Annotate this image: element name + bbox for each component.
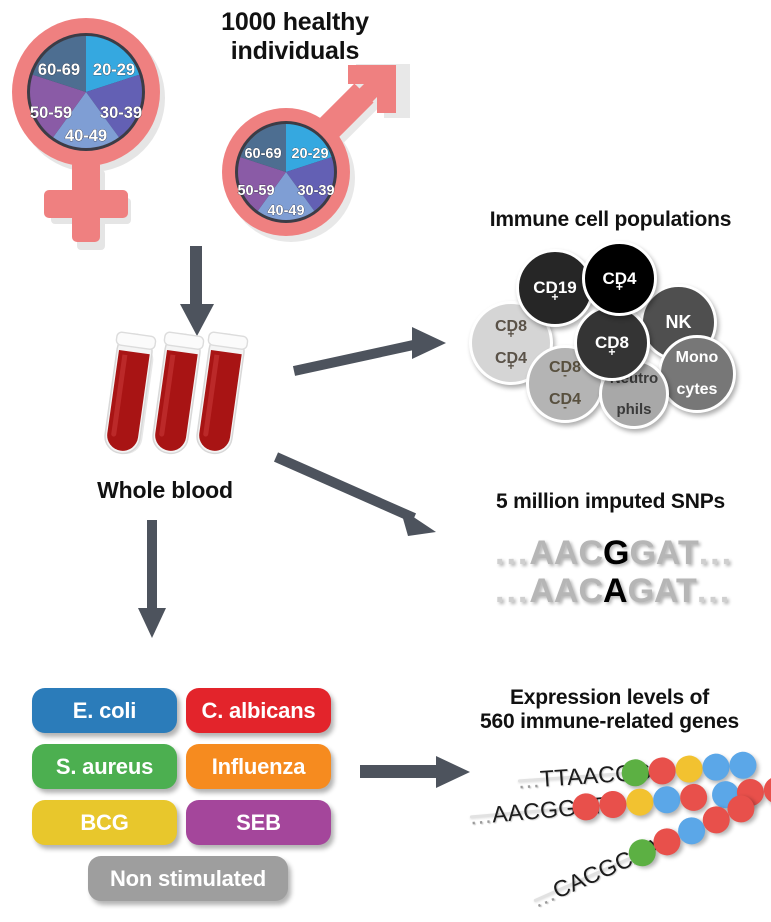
blood-tube-2: [149, 332, 204, 456]
pie-label-50-59: 50-59: [30, 104, 72, 122]
stimulus-c-albicans[interactable]: C. albicans: [186, 688, 331, 733]
svg-text:50-59: 50-59: [237, 183, 274, 199]
cell-bubble-cd8pos: CD8+: [574, 305, 650, 381]
cell-label-line1: Mono: [676, 350, 719, 366]
svg-text:60-69: 60-69: [244, 146, 281, 162]
genes-heading-line2: 560 immune-related genes: [448, 710, 771, 734]
snp-highlight-allele: A: [603, 572, 628, 610]
female-symbol: 20-29 30-39 40-49 50-59 60-69: [8, 14, 198, 254]
snp-right: GAT: [629, 534, 698, 572]
cell-label-line1: CD8-: [549, 360, 581, 376]
svg-text:30-39: 30-39: [297, 183, 334, 199]
pie-label-20-29: 20-29: [93, 61, 135, 79]
snp-prefix-dots: ...: [495, 572, 529, 610]
cell-label: CD4+: [602, 270, 636, 287]
snp-prefix-dots: ...: [495, 534, 529, 572]
immune-cell-cluster: CD8+ CD4+ CD19+ CD4+ NK CD8+ CD8- CD4- N…: [455, 235, 771, 425]
cell-bubble-cd4pos: CD4+: [582, 241, 657, 316]
genes-heading-line1: Expression levels of: [448, 686, 771, 710]
arrow-blood-to-stimuli: [132, 520, 174, 640]
blood-tube-3: [193, 332, 248, 456]
cell-label-line2: CD4+: [495, 351, 527, 367]
cell-label: NK: [666, 313, 692, 331]
arrow-blood-to-snps: [272, 432, 452, 542]
cell-label: CD8+: [595, 334, 629, 351]
pie-label-40-49: 40-49: [65, 127, 107, 145]
stimulus-seb[interactable]: SEB: [186, 800, 331, 845]
cell-label: CD19+: [533, 279, 576, 296]
cell-label-line2: phils: [610, 402, 658, 417]
immune-cells-heading: Immune cell populations: [450, 208, 771, 232]
snp-highlight-allele: G: [603, 534, 629, 572]
snp-right: GAT: [628, 572, 697, 610]
stimulus-influenza[interactable]: Influenza: [186, 744, 331, 789]
cell-label-line2: CD4-: [549, 392, 581, 408]
snp-sequence-2: ...AACAGAT...: [495, 572, 731, 611]
rna-sequence-dots: ...: [517, 766, 541, 793]
rna-sequence-dots: ...: [529, 880, 560, 913]
snp-sequence-1: ...AACGGAT...: [495, 534, 733, 573]
cell-label-line1: CD8+: [495, 319, 527, 335]
cell-label-line2: cytes: [676, 382, 719, 398]
snp-suffix-dots: ...: [697, 572, 731, 610]
pie-label-60-69: 60-69: [38, 61, 80, 79]
rna-sequence-dots: ...: [469, 802, 493, 830]
stimulus-e-coli[interactable]: E. coli: [32, 688, 177, 733]
cohort-heading-line1: 1000 healthy: [170, 8, 420, 37]
stimulus-bcg[interactable]: BCG: [32, 800, 177, 845]
rna-bead: [625, 788, 654, 817]
blood-tubes: [100, 330, 250, 475]
male-symbol: 20-29 30-39 40-49 50-59 60-69: [196, 55, 426, 255]
snp-suffix-dots: ...: [699, 534, 733, 572]
snps-heading: 5 million imputed SNPs: [450, 490, 771, 514]
svg-text:40-49: 40-49: [267, 203, 304, 219]
figure-canvas: 1000 healthy individuals 20-29 3: [0, 0, 771, 922]
genes-heading: Expression levels of 560 immune-related …: [448, 686, 771, 734]
stimulus-non-stimulated[interactable]: Non stimulated: [88, 856, 288, 901]
arrow-blood-to-cells: [292, 325, 452, 385]
whole-blood-label: Whole blood: [60, 477, 270, 503]
cell-bubble-monocytes: Mono cytes: [658, 335, 736, 413]
rna-bead: [652, 785, 681, 814]
snp-left: AAC: [529, 534, 603, 572]
arrow-cohort-to-blood: [176, 246, 218, 338]
arrow-stimuli-to-genes: [360, 752, 475, 792]
stimulus-s-aureus[interactable]: S. aureus: [32, 744, 177, 789]
snp-left: AAC: [529, 572, 603, 610]
pie-label-30-39: 30-39: [100, 104, 142, 122]
svg-text:20-29: 20-29: [291, 146, 328, 162]
